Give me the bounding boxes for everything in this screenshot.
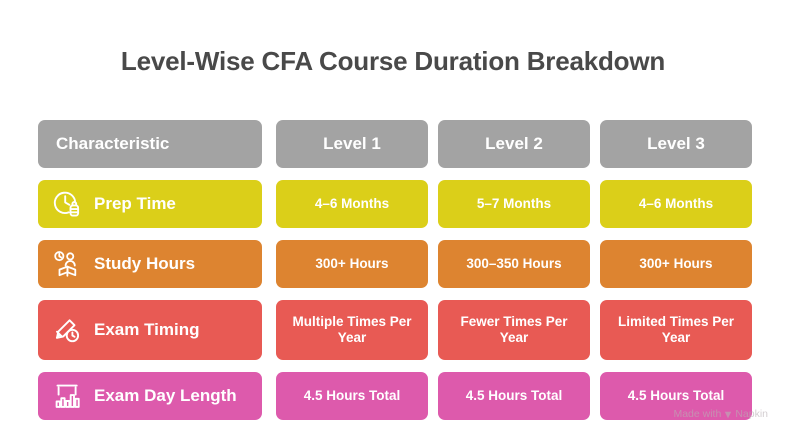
cell-exam-timing-level-3: Limited Times Per Year — [600, 300, 752, 360]
watermark-text-after: Napkin — [735, 408, 768, 420]
header-cell-level-1: Level 1 — [276, 120, 428, 168]
cell-value: Limited Times Per Year — [600, 314, 752, 346]
pencil-clock-icon — [51, 314, 83, 346]
header-cell-level-2: Level 2 — [438, 120, 590, 168]
cell-prep-time-level-1: 4–6 Months — [276, 180, 428, 228]
cell-value: Fewer Times Per Year — [438, 314, 590, 346]
table-row-prep-time: Prep Time 4–6 Months 5–7 Months 4–6 Mont… — [38, 180, 748, 228]
cell-value: 300+ Hours — [307, 256, 396, 272]
header-label-characteristic: Characteristic — [56, 134, 169, 154]
cell-study-hours-level-2: 300–350 Hours — [438, 240, 590, 288]
header-label-level-2: Level 2 — [485, 134, 543, 154]
comparison-table: Characteristic Level 1 Level 2 Level 3 — [38, 120, 748, 432]
row-label-text-exam-day-length: Exam Day Length — [94, 386, 237, 406]
cell-prep-time-level-2: 5–7 Months — [438, 180, 590, 228]
cell-exam-timing-level-2: Fewer Times Per Year — [438, 300, 590, 360]
cell-study-hours-level-1: 300+ Hours — [276, 240, 428, 288]
bar-chart-icon — [51, 380, 83, 412]
row-label-exam-day-length: Exam Day Length — [38, 372, 262, 420]
table-header-row: Characteristic Level 1 Level 2 Level 3 — [38, 120, 748, 168]
header-label-level-3: Level 3 — [647, 134, 705, 154]
table-row-exam-day-length: Exam Day Length 4.5 Hours Total 4.5 Hour… — [38, 372, 748, 420]
cell-study-hours-level-3: 300+ Hours — [600, 240, 752, 288]
cell-prep-time-level-3: 4–6 Months — [600, 180, 752, 228]
cell-value: Multiple Times Per Year — [276, 314, 428, 346]
row-label-exam-timing: Exam Timing — [38, 300, 262, 360]
header-label-level-1: Level 1 — [323, 134, 381, 154]
row-label-text-study-hours: Study Hours — [94, 254, 195, 274]
cell-value: 5–7 Months — [469, 196, 559, 212]
header-cell-level-3: Level 3 — [600, 120, 752, 168]
napkin-logo-icon — [724, 410, 732, 418]
table-row-study-hours: Study Hours 300+ Hours 300–350 Hours 300… — [38, 240, 748, 288]
row-label-text-exam-timing: Exam Timing — [94, 320, 200, 340]
cell-exam-timing-level-1: Multiple Times Per Year — [276, 300, 428, 360]
table-row-exam-timing: Exam Timing Multiple Times Per Year Fewe… — [38, 300, 748, 360]
row-label-text-prep-time: Prep Time — [94, 194, 176, 214]
row-label-prep-time: Prep Time — [38, 180, 262, 228]
cell-value: 4–6 Months — [307, 196, 397, 212]
cell-value: 300+ Hours — [631, 256, 720, 272]
cell-value: 4.5 Hours Total — [620, 388, 733, 404]
watermark-text-before: Made with — [673, 408, 721, 420]
cell-value: 4.5 Hours Total — [458, 388, 571, 404]
page-title: Level-Wise CFA Course Duration Breakdown — [0, 46, 786, 77]
cell-value: 4.5 Hours Total — [296, 388, 409, 404]
person-reading-book-clock-icon — [51, 248, 83, 280]
cell-exam-day-length-level-1: 4.5 Hours Total — [276, 372, 428, 420]
cell-value: 300–350 Hours — [458, 256, 569, 272]
header-cell-characteristic: Characteristic — [38, 120, 262, 168]
row-label-study-hours: Study Hours — [38, 240, 262, 288]
infographic-canvas: Level-Wise CFA Course Duration Breakdown… — [0, 0, 786, 439]
clock-hourglass-icon — [51, 188, 83, 220]
cell-value: 4–6 Months — [631, 196, 721, 212]
napkin-watermark: Made with Napkin — [673, 408, 768, 420]
cell-exam-day-length-level-2: 4.5 Hours Total — [438, 372, 590, 420]
